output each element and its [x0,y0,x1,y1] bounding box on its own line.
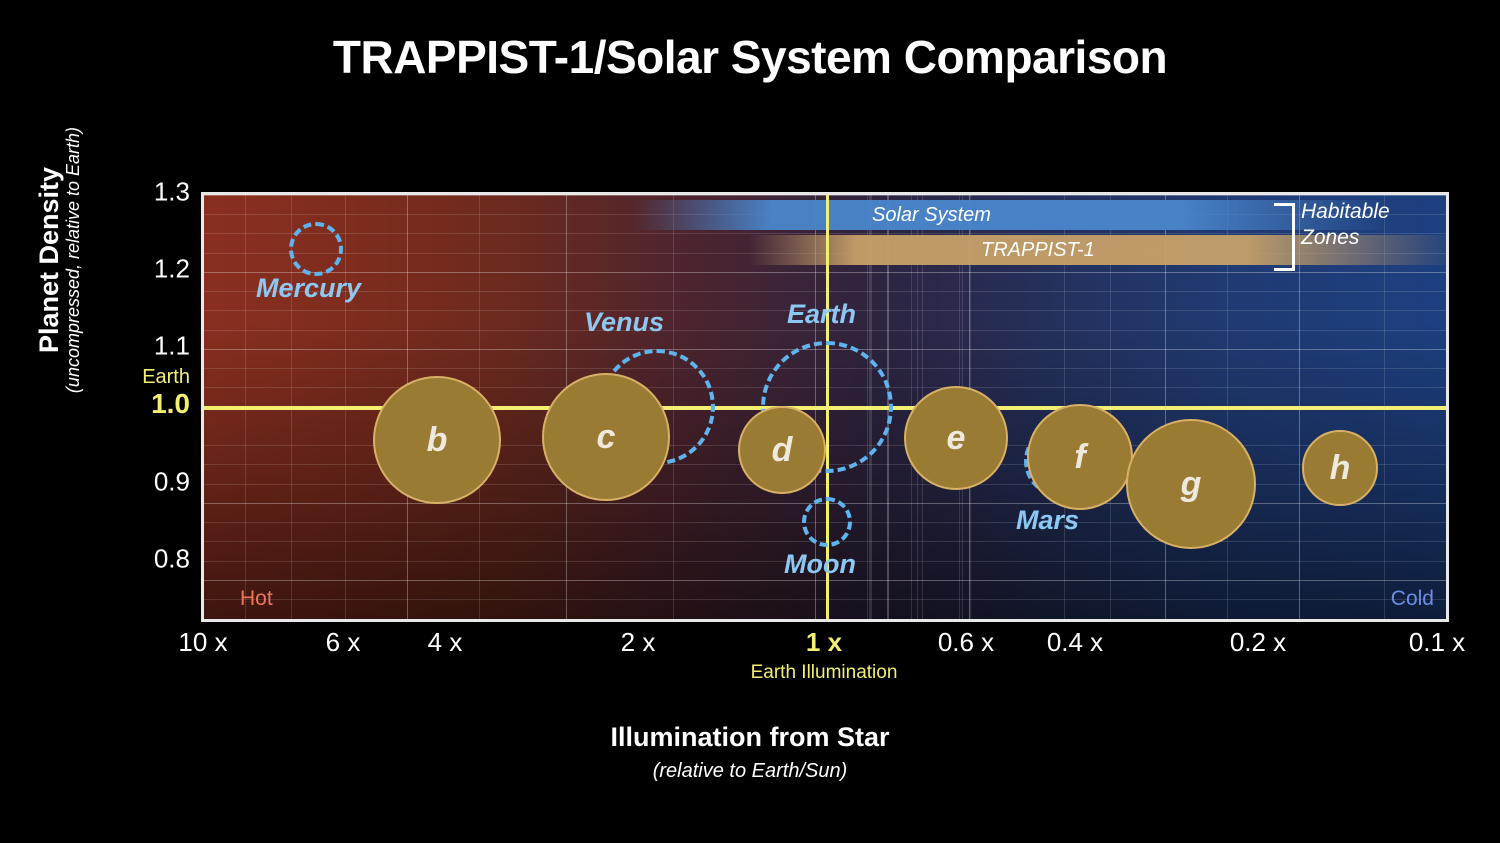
planet-disc-d[interactable]: d [738,406,826,494]
planet-label-d: d [772,431,793,470]
planet-disc-c[interactable]: c [542,373,670,501]
planet-disc-g[interactable]: g [1126,419,1256,549]
reference-circle-moon [802,497,852,547]
gridline-h-1-125 [204,330,1446,331]
infographic-root: TRAPPIST-1/Solar System Comparison Plane… [0,0,1500,843]
planet-disc-f[interactable]: f [1027,404,1133,510]
y-tick-earth-value: 1.0 [40,388,190,420]
y-axis-ticks: 1.3 1.2 1.1 Earth 1.0 0.9 0.8 [20,0,190,843]
y-tick-0-8: 0.8 [40,544,190,575]
planet-label-b: b [427,421,448,460]
gridline-h-0-80 [204,580,1446,581]
x-tick-0-1x: 0.1 x [1409,627,1465,658]
habitable-zones-legend-label: Habitable Zones [1301,199,1390,252]
x-tick-6x: 6 x [326,627,361,658]
gridline-h-1-20 [204,272,1446,273]
x-tick-4x: 4 x [428,627,463,658]
x-axis-title: Illumination from Star [0,722,1500,753]
gridline-h-1-25 [204,233,1446,234]
x-axis-subtitle: (relative to Earth/Sun) [0,760,1500,783]
reference-label-earth: Earth [787,299,856,330]
y-tick-1-3: 1.3 [40,177,190,208]
plot-area: Solar System TRAPPIST-1 Habitable Zones … [201,192,1449,622]
planet-disc-h[interactable]: h [1302,430,1378,506]
gridline-h-1-175 [204,291,1446,292]
habitable-zones-bracket-icon [1274,203,1295,271]
corner-label-cold: Cold [1391,587,1434,611]
habitable-zones-legend-line2: Zones [1301,225,1390,251]
planet-label-e: e [947,419,966,458]
earth-illumination-note: Earth Illumination [751,662,898,684]
x-tick-2x: 2 x [621,627,656,658]
reference-label-venus: Venus [584,307,664,338]
planet-label-f: f [1074,438,1085,477]
gridline-h-0-775 [204,599,1446,600]
y-tick-earth-word: Earth [40,366,190,389]
y-tick-1-2: 1.2 [40,254,190,285]
y-tick-0-9: 0.9 [40,467,190,498]
planet-disc-e[interactable]: e [904,386,1008,490]
page-title: TRAPPIST-1/Solar System Comparison [0,30,1500,84]
reference-label-mercury: Mercury [256,273,361,304]
reference-label-moon: Moon [784,549,856,580]
planet-label-c: c [597,418,616,457]
x-tick-0-6x: 0.6 x [938,627,994,658]
x-tick-0-2x: 0.2 x [1230,627,1286,658]
y-tick-1-1: 1.1 [40,331,190,362]
planet-label-h: h [1330,449,1351,488]
x-tick-10x: 10 x [178,627,227,658]
habitable-zone-label-solar-system: Solar System [872,204,991,227]
corner-label-hot: Hot [240,587,273,611]
x-tick-0-4x: 0.4 x [1047,627,1103,658]
habitable-zone-label-trappist: TRAPPIST-1 [981,239,1095,262]
planet-disc-b[interactable]: b [373,376,501,504]
planet-label-g: g [1181,465,1202,504]
habitable-zones-legend-line1: Habitable [1301,199,1390,225]
gridline-h-1-30 [204,195,1446,196]
reference-circle-mercury [289,222,343,276]
x-tick-1x: 1 x [806,627,842,658]
reference-label-mars: Mars [1016,505,1079,536]
